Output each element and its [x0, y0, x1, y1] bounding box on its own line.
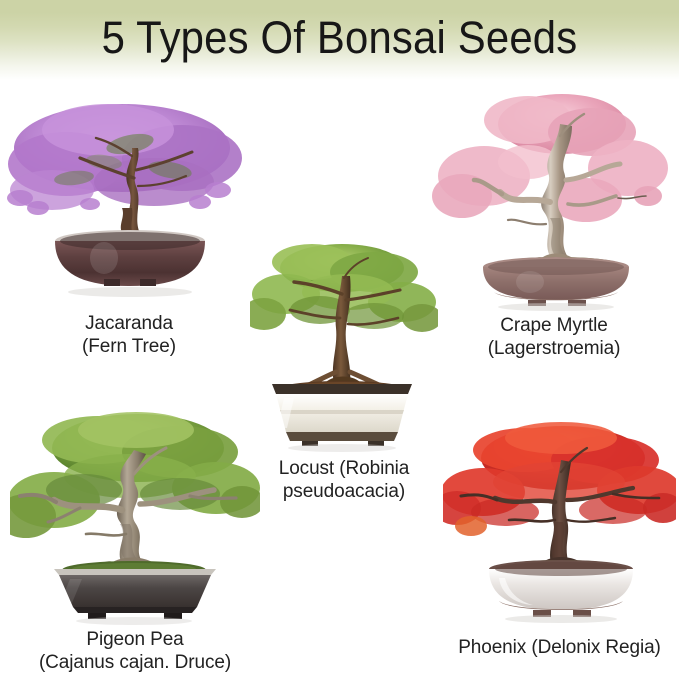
jacaranda-pot: [55, 230, 205, 286]
caption-crape-myrtle: Crape Myrtle (Lagerstroemia): [432, 314, 676, 360]
caption-jacaranda: Jacaranda (Fern Tree): [4, 312, 254, 358]
page-title: 5 Types Of Bonsai Seeds: [24, 0, 655, 76]
bonsai-card-pigeon-pea: Pigeon Pea (Cajanus cajan. Druce): [10, 404, 260, 674]
crape-myrtle-pot: [483, 257, 629, 306]
pigeon-pea-pot: [54, 569, 216, 619]
caption-phoenix: Phoenix (Delonix Regia): [443, 636, 676, 659]
pigeon-pea-bonsai-photo: [10, 404, 260, 626]
caption-pigeon-pea: Pigeon Pea (Cajanus cajan. Druce): [10, 628, 260, 674]
crape-myrtle-bonsai-photo: [432, 84, 676, 312]
phoenix-pot: [489, 560, 633, 617]
phoenix-bonsai-photo: [443, 416, 676, 634]
jacaranda-bonsai-photo: [4, 86, 254, 308]
locust-bonsai-photo: [250, 232, 438, 454]
locust-pot: [272, 384, 412, 446]
bonsai-card-crape-myrtle: Crape Myrtle (Lagerstroemia): [432, 84, 676, 360]
bonsai-card-phoenix: Phoenix (Delonix Regia): [443, 416, 676, 659]
bonsai-card-jacaranda: Jacaranda (Fern Tree): [4, 86, 254, 358]
jacaranda-foliage: [7, 104, 242, 215]
caption-locust: Locust (Robinia pseudoacacia): [250, 457, 438, 503]
bonsai-card-locust: Locust (Robinia pseudoacacia): [250, 232, 438, 503]
